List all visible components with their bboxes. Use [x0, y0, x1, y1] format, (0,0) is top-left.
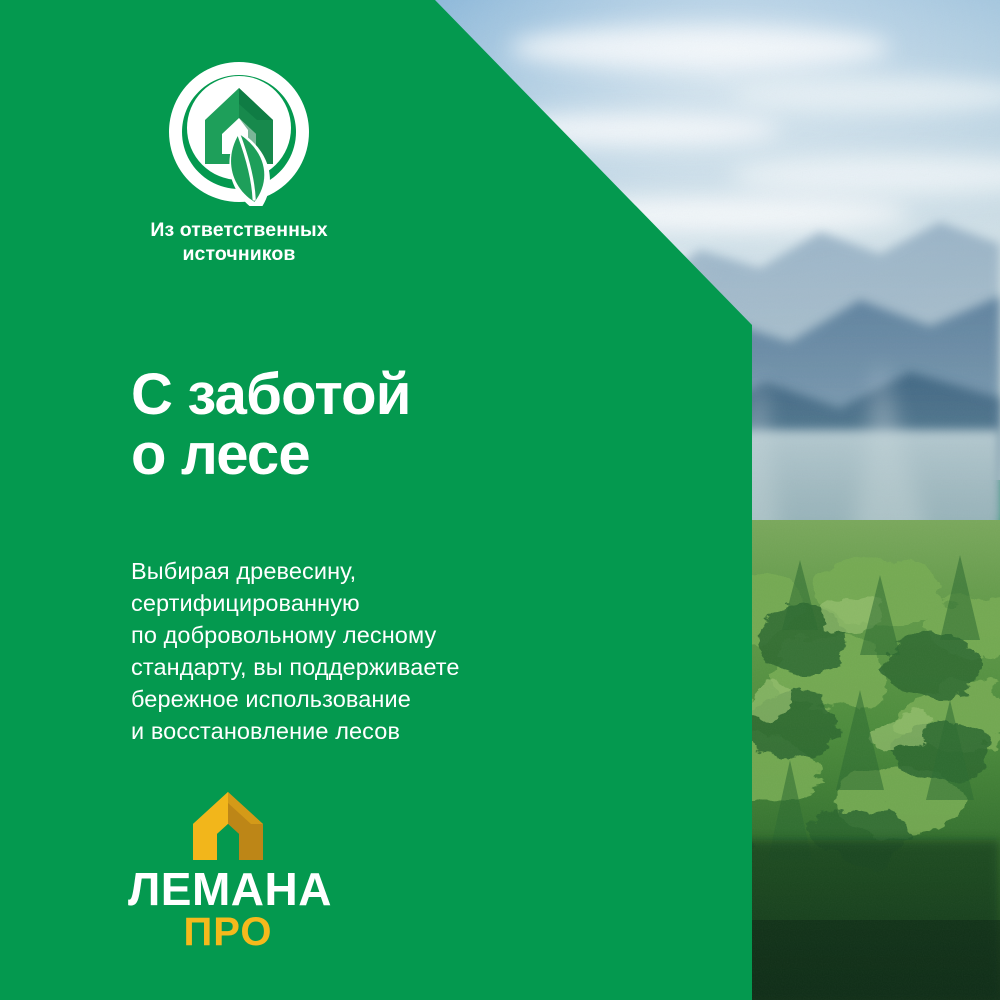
poster-content: Из ответственных источников С заботой о …: [0, 0, 1000, 1000]
brand-name: ЛЕМАНА: [128, 868, 328, 911]
page-title: С заботой о лесе: [131, 365, 651, 484]
promo-poster: Из ответственных источников С заботой о …: [0, 0, 1000, 1000]
body-paragraph: Выбирая древесину, сертифицированную по …: [131, 555, 611, 748]
brand-subname: ПРО: [128, 912, 328, 952]
house-leaf-circle-logo: [165, 58, 313, 206]
brand-lockup: ЛЕМАНА ПРО: [128, 790, 328, 952]
eco-badge-caption: Из ответственных источников: [128, 218, 350, 266]
eco-certification-badge: Из ответственных источников: [128, 58, 350, 266]
lemana-house-icon: [187, 790, 269, 862]
